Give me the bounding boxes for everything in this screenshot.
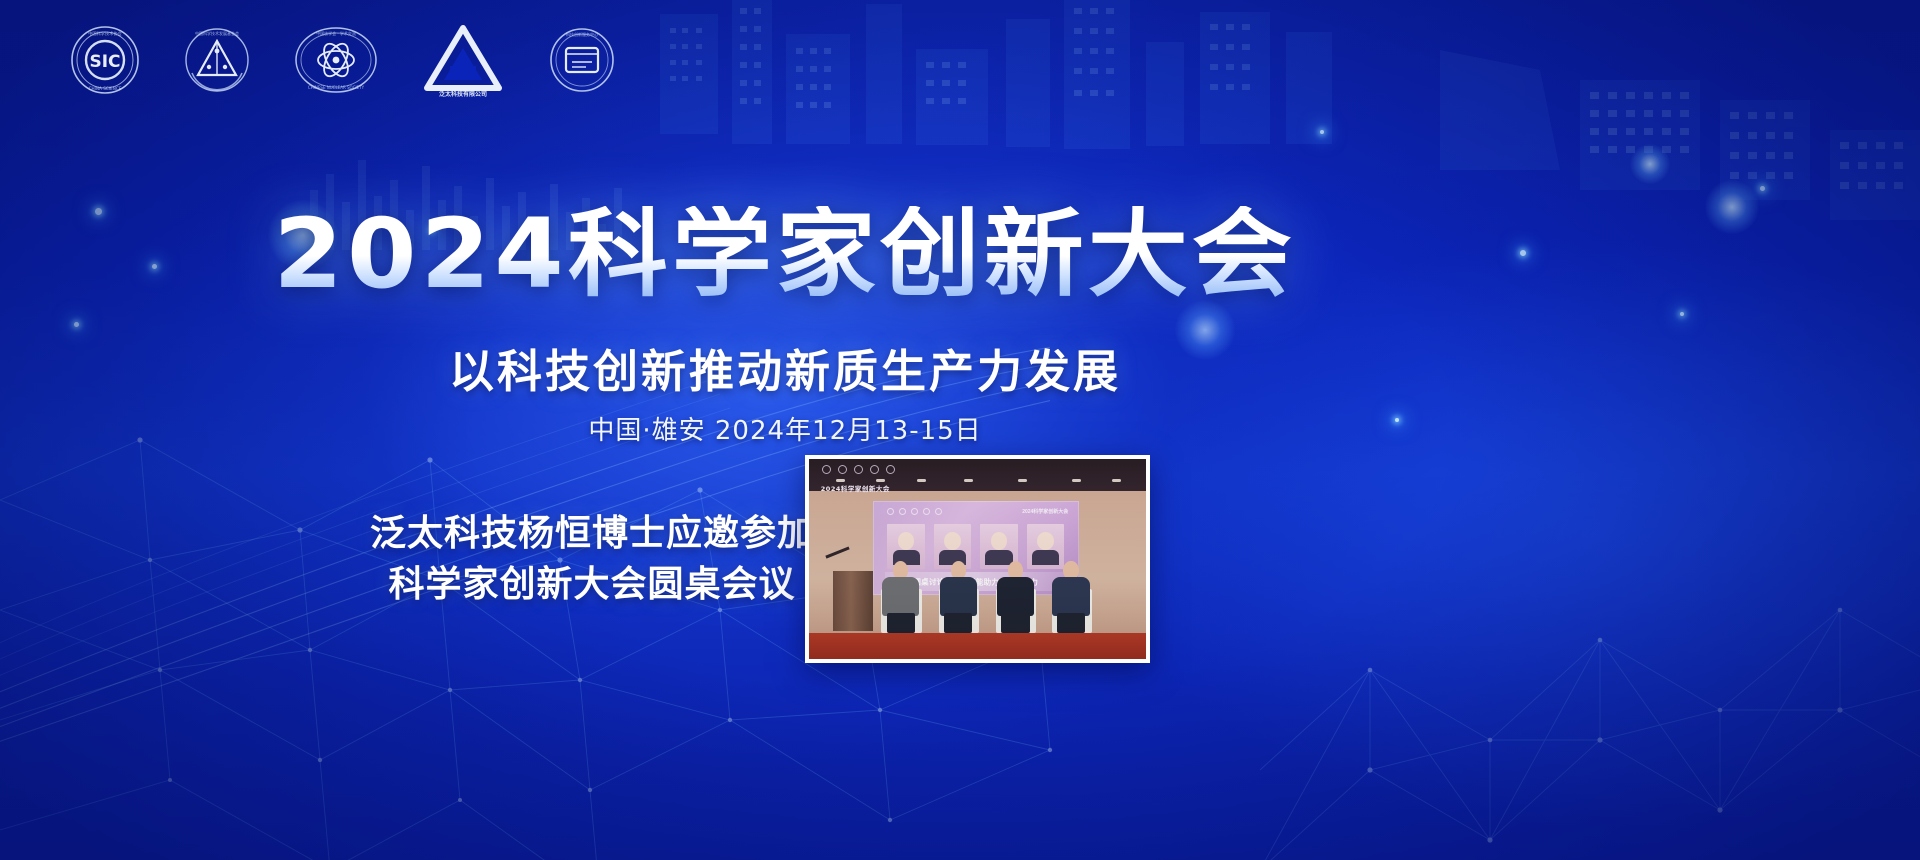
sic-emblem-logo: SIC 中国科学技术协会 CHINA SCIENCE <box>68 23 142 97</box>
event-caption-line-1: 泛太科技杨恒博士应邀参加 <box>352 508 832 559</box>
bokeh-glow <box>1705 180 1759 234</box>
svg-text:CHINA SCIENCE: CHINA SCIENCE <box>89 86 122 91</box>
event-caption-line-2: 科学家创新大会圆桌会议 <box>352 559 832 610</box>
bokeh-glow <box>1630 144 1670 184</box>
svg-text:中国核学会 · 学术交流: 中国核学会 · 学术交流 <box>316 30 356 36</box>
background-network-mesh-right <box>1220 470 1920 860</box>
svg-text:CHINESE NUCLEAR SOCIETY: CHINESE NUCLEAR SOCIETY <box>308 85 365 90</box>
event-caption: 泛太科技杨恒博士应邀参加 科学家创新大会圆桌会议 <box>352 508 832 610</box>
svg-text:SIC: SIC <box>89 52 120 72</box>
atom-oval-seal-logo: 中国核学会 · 学术交流 CHINESE NUCLEAR SOCIETY <box>292 24 380 96</box>
triangle-seal-logo: 中国科学技术发展基金会 <box>182 25 252 95</box>
organizer-logo-row: SIC 中国科学技术协会 CHINA SCIENCE 中国科学技术发展基金会 <box>68 22 618 98</box>
shield-circle-logo: 科技创新服务中心 <box>546 24 618 96</box>
main-title-container: 2024科学家创新大会 <box>0 206 1570 302</box>
main-title: 2024科学家创新大会 <box>274 206 1297 302</box>
svg-text:科技创新服务中心: 科技创新服务中心 <box>566 31 598 37</box>
svg-text:中国科学技术发展基金会: 中国科学技术发展基金会 <box>195 30 239 36</box>
triangle-mark-logo-text: 泛太科技有限公司 <box>439 90 487 98</box>
triangle-mark-logo: 泛太科技有限公司 <box>420 22 506 98</box>
glow-particle <box>1680 312 1684 316</box>
glow-particle <box>74 322 79 327</box>
conference-banner: SIC 中国科学技术协会 CHINA SCIENCE 中国科学技术发展基金会 <box>0 0 1920 860</box>
subtitle: 以科技创新推动新质生产力发展 <box>0 335 1570 400</box>
photo-light-overlay <box>809 459 1146 659</box>
glow-particle <box>1320 130 1324 134</box>
glow-particle <box>1760 186 1765 191</box>
roundtable-panel-photo: 2024科学家创新大会 2024科学家创新大会 圆桌讨论：人工智能助力新质生产力 <box>809 459 1146 659</box>
dateline: 中国·雄安 2024年12月13-15日 <box>0 410 1570 447</box>
svg-text:中国科学技术协会: 中国科学技术协会 <box>88 30 122 37</box>
roundtable-panel-photo-frame: 2024科学家创新大会 2024科学家创新大会 圆桌讨论：人工智能助力新质生产力 <box>805 455 1150 663</box>
